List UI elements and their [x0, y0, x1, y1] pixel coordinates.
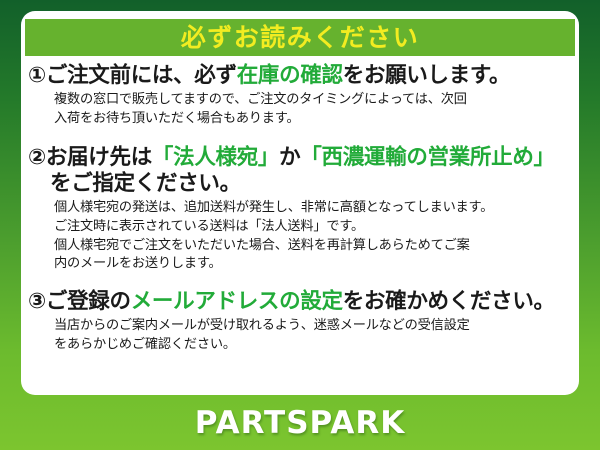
item-2-body: 個人様宅宛の発送は、追加送料が発生し、非常に高額となってしまいます。 ご注文時に…: [28, 199, 573, 274]
spacer-1: [28, 134, 573, 145]
item-2-body-line-3: 個人様宅宛でご注文をいただいた場合、送料を再計算しあらためてご案: [54, 237, 573, 256]
spacer-2: [28, 278, 573, 289]
item-1-heading: ①ご注文前には、必ず在庫の確認をお願いします。: [28, 63, 573, 89]
item-3-heading-highlight: メールアドレスの設定: [131, 289, 343, 314]
banner-title: 必ずお読みください: [181, 25, 420, 50]
item-2-heading: ②お届け先は「法人様宛」か「西濃運輸の営業所止め」: [28, 145, 573, 171]
item-2-body-line-1: 個人様宅宛の発送は、追加送料が発生し、非常に高額となってしまいます。: [54, 199, 573, 218]
item-1-heading-post: をお願いします。: [343, 63, 510, 88]
notice-footer: PARTSPARK: [0, 396, 600, 450]
notice-graphic: 必ずお読みください ①ご注文前には、必ず在庫の確認をお願いします。 複数の窓口で…: [0, 0, 600, 450]
item-2-body-line-4: 内のメールをお送りします。: [54, 255, 573, 274]
notice-item-3: ③ご登録のメールアドレスの設定をお確かめください。 当店からのご案内メールが受け…: [28, 289, 573, 355]
brand-name: PARTSPARK: [195, 408, 406, 439]
notice-content: ①ご注文前には、必ず在庫の確認をお願いします。 複数の窓口で販売してますので、ご…: [21, 63, 579, 360]
item-2-number: ②: [28, 145, 46, 170]
notice-item-1: ①ご注文前には、必ず在庫の確認をお願いします。 複数の窓口で販売してますので、ご…: [28, 63, 573, 129]
item-3-body-line-1: 当店からのご案内メールが受け取れるよう、迷惑メールなどの受信設定: [54, 317, 573, 336]
item-3-body-line-2: をあらかじめご確認ください。: [54, 336, 573, 355]
item-2-heading-highlight-2: 「西濃運輸の営業所止め」: [300, 145, 554, 170]
item-3-heading-post: をお確かめください。: [343, 289, 555, 314]
item-1-heading-highlight: 在庫の確認: [237, 63, 343, 88]
notice-item-2: ②お届け先は「法人様宛」か「西濃運輸の営業所止め」 をご指定ください。 個人様宅…: [28, 145, 573, 274]
item-2-heading-line-2: をご指定ください。: [28, 171, 573, 197]
item-3-number: ③: [28, 289, 46, 314]
item-1-body-line-2: 入荷をお待ち頂いただく場合もあります。: [54, 110, 573, 129]
item-1-body-line-1: 複数の窓口で販売してますので、ご注文のタイミングによっては、次回: [54, 91, 573, 110]
item-1-body: 複数の窓口で販売してますので、ご注文のタイミングによっては、次回 入荷をお待ち頂…: [28, 91, 573, 128]
item-2-heading-highlight: 「法人様宛」: [152, 145, 279, 170]
item-2-body-line-2: ご注文時に表示されている送料は「法人送料」です。: [54, 218, 573, 237]
notice-banner: 必ずお読みください: [25, 19, 575, 56]
item-3-heading: ③ご登録のメールアドレスの設定をお確かめください。: [28, 289, 573, 315]
item-1-heading-pre: ご注文前には、必ず: [46, 63, 237, 88]
notice-card: 必ずお読みください ①ご注文前には、必ず在庫の確認をお願いします。 複数の窓口で…: [21, 11, 579, 395]
item-3-body: 当店からのご案内メールが受け取れるよう、迷惑メールなどの受信設定 をあらかじめご…: [28, 317, 573, 354]
item-3-heading-pre: ご登録の: [46, 289, 131, 314]
item-1-number: ①: [28, 63, 46, 88]
item-2-heading-pre: お届け先は: [46, 145, 152, 170]
item-2-heading-mid: か: [279, 145, 300, 170]
